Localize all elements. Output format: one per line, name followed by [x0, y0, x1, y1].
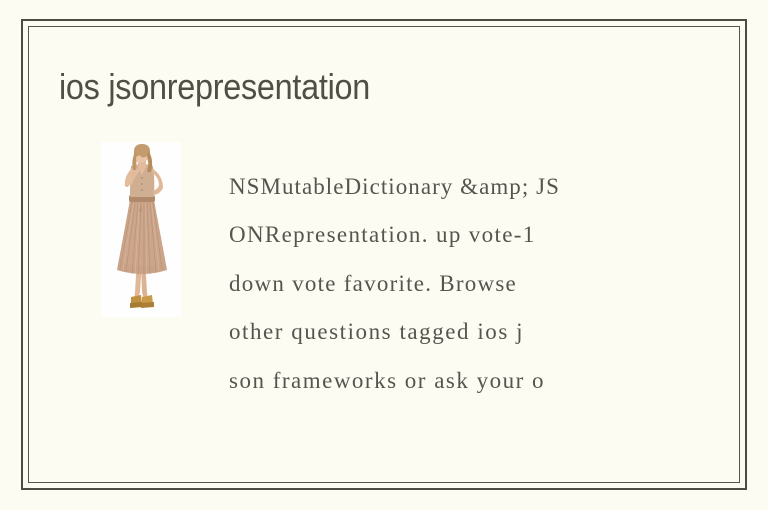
page-title: ios jsonrepresentation: [59, 66, 635, 108]
body-line-3: down vote favorite. Browse: [229, 260, 659, 308]
thumbnail-image: [101, 142, 181, 317]
body-text-block: NSMutableDictionary &amp; JS ONRepresent…: [229, 163, 659, 405]
body-line-5: son frameworks or ask your o: [229, 357, 659, 405]
body-line-1: NSMutableDictionary &amp; JS: [229, 163, 659, 211]
body-line-4: other questions tagged ios j: [229, 308, 659, 356]
body-line-2: ONRepresentation. up vote-1: [229, 211, 659, 259]
page-root: ios jsonrepresentation: [0, 0, 768, 510]
woman-dress-photo-icon: [101, 142, 181, 317]
